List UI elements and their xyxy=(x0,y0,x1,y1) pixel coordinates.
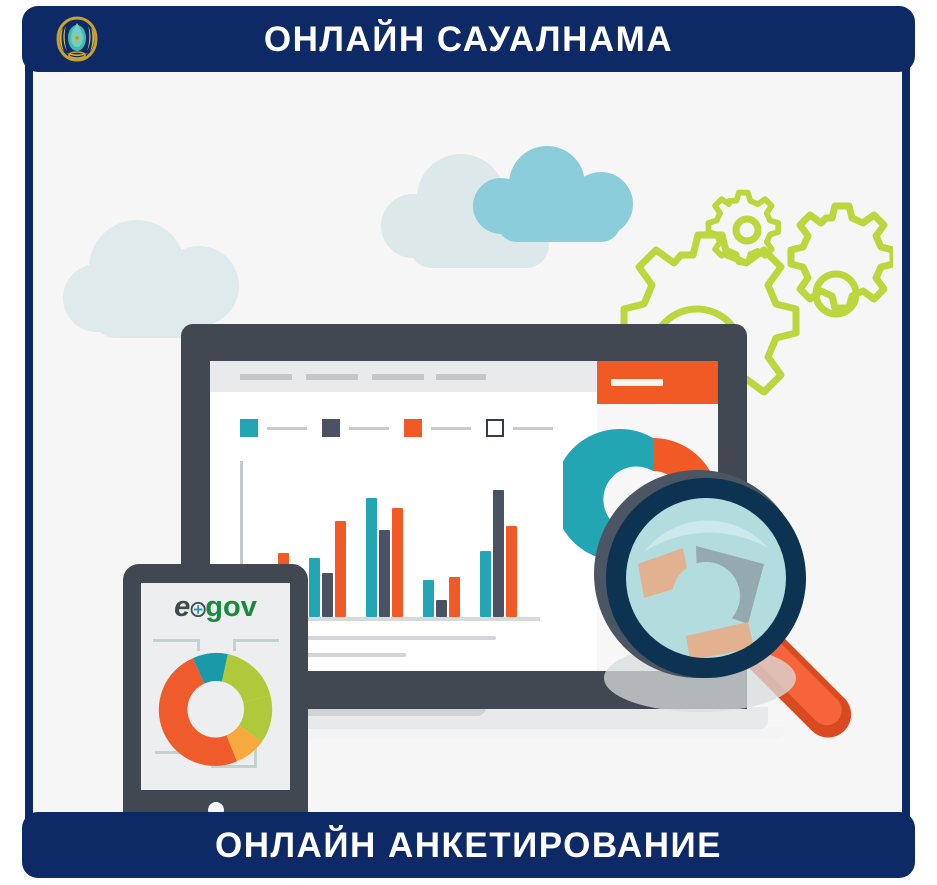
legend-swatch-orange xyxy=(404,419,422,437)
chart-bar-G2-slate xyxy=(322,573,333,618)
menu-pill-1[interactable] xyxy=(240,374,292,380)
chart-bar-G3-teal xyxy=(366,498,377,617)
chart-bar-G3-slate xyxy=(379,530,390,617)
legend-line-2 xyxy=(349,427,389,430)
illustration-canvas: e gov xyxy=(33,62,902,824)
tablet-egov-logo: e gov xyxy=(174,593,257,622)
legend-item-teal[interactable] xyxy=(240,419,307,437)
chart-bar-G4-slate xyxy=(436,600,447,617)
top-banner-title: ОНЛАЙН САУАЛНАМА xyxy=(264,22,673,57)
legend-line-3 xyxy=(431,427,471,430)
panel-header-bar xyxy=(611,379,663,386)
chart-bar-G3-orange xyxy=(392,508,403,617)
legend-line-4 xyxy=(513,427,553,430)
chart-bar-G5-orange xyxy=(506,526,517,617)
chart-bar-G5-slate xyxy=(493,490,504,617)
menu-pill-3[interactable] xyxy=(372,374,424,380)
banner-stage: ОНЛАЙН САУАЛНАМА xyxy=(0,0,937,885)
menu-pill-2[interactable] xyxy=(306,374,358,380)
kazakhstan-coat-of-arms-icon xyxy=(53,14,101,64)
legend-item-slate[interactable] xyxy=(322,419,389,437)
magnifying-glass-icon xyxy=(578,456,888,756)
chart-bar-G4-orange xyxy=(449,577,460,617)
legend-swatch-slate xyxy=(322,419,340,437)
tablet-donut-chart xyxy=(148,641,284,777)
panel-header-orange xyxy=(597,361,718,404)
tablet-screen: e gov xyxy=(141,583,290,790)
tablet-egov-gov: gov xyxy=(205,593,257,622)
legend-line-1 xyxy=(267,427,307,430)
chart-bar-G2-orange xyxy=(335,521,346,617)
bottom-banner-title: ОНЛАЙН АНКЕТИРОВАНИЕ xyxy=(215,828,722,863)
legend-item-empty[interactable] xyxy=(486,419,553,437)
top-banner: ОНЛАЙН САУАЛНАМА xyxy=(22,6,915,72)
legend-swatch-teal xyxy=(240,419,258,437)
menu-pill-4[interactable] xyxy=(436,374,486,380)
tablet-egov-dot-icon xyxy=(190,593,205,622)
legend-item-orange[interactable] xyxy=(404,419,471,437)
bottom-banner: ОНЛАЙН АНКЕТИРОВАНИЕ xyxy=(22,812,915,878)
chart-bar-G2-teal xyxy=(309,558,320,617)
illustration-frame: e gov xyxy=(25,62,910,824)
chart-bar-G4-teal xyxy=(423,580,434,617)
tablet-egov-e: e xyxy=(174,593,190,622)
chart-bar-G5-teal xyxy=(480,551,491,617)
tablet-device: e gov xyxy=(123,564,308,824)
legend-swatch-empty xyxy=(486,419,504,437)
chart-legend xyxy=(240,419,570,439)
